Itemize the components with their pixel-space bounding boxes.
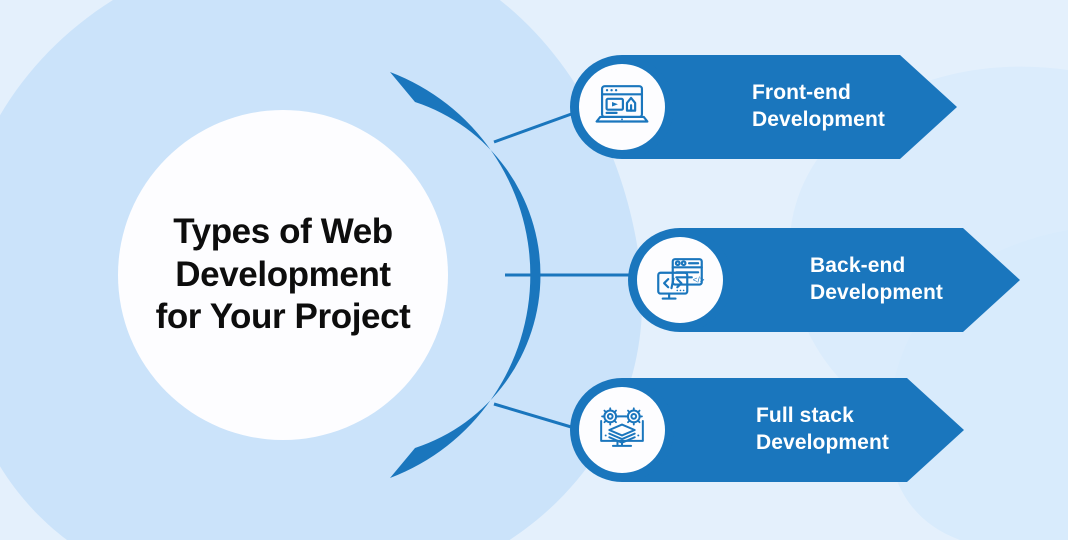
infographic-canvas: Types of Web Development for Your Projec… — [0, 0, 1068, 540]
badge-front-end[interactable] — [570, 55, 674, 159]
label-front-end: Front-end Development — [752, 80, 885, 134]
laptop-design-icon — [579, 64, 665, 150]
svg-text:</>: </> — [693, 276, 705, 285]
page-title: Types of Web Development for Your Projec… — [133, 211, 433, 339]
label-back-end: Back-end Development — [810, 253, 943, 307]
gears-layers-monitor-icon — [579, 387, 665, 473]
badge-full-stack[interactable] — [570, 378, 674, 482]
banner-back-end[interactable]: Back-end Development — [680, 228, 1068, 332]
badge-back-end[interactable]: </> — [628, 228, 732, 332]
label-full-stack: Full stack Development — [756, 403, 889, 457]
hub-circle: Types of Web Development for Your Projec… — [118, 110, 448, 440]
banner-front-end[interactable]: Front-end Development — [622, 55, 1068, 159]
code-monitor-icon: </> — [637, 237, 723, 323]
banner-full-stack[interactable]: Full stack Development — [622, 378, 1068, 482]
